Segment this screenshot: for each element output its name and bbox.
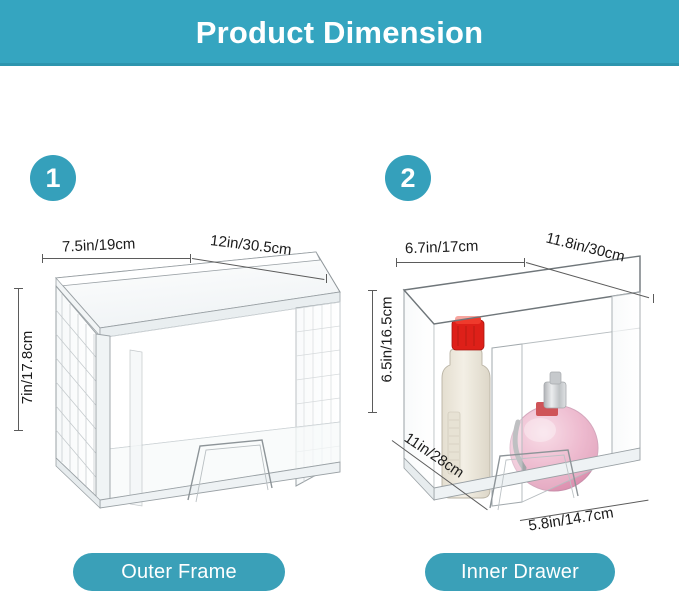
tick-length-right-end — [653, 294, 654, 303]
tick-width-left-start — [42, 254, 43, 263]
product-dimension-infographic: Product Dimension 1 2 — [0, 0, 679, 599]
caption-pill-inner-drawer: Inner Drawer — [425, 553, 615, 591]
header-banner: Product Dimension — [0, 0, 679, 66]
dimension-label-inner-width: 6.7in/17cm — [405, 239, 479, 257]
caption-outer-frame-label: Outer Frame — [121, 561, 237, 584]
tick-height-left-bottom — [14, 430, 23, 431]
caption-pill-outer-frame: Outer Frame — [73, 553, 285, 591]
tick-length-left-end — [326, 274, 327, 283]
badge-2-label: 2 — [400, 165, 415, 192]
outer-frame-illustration — [10, 250, 350, 510]
page-title: Product Dimension — [0, 14, 679, 52]
dimension-label-inner-height: 6.5in/16.5cm — [379, 297, 394, 383]
tick-height-left-top — [14, 288, 23, 289]
dimension-label-outer-height: 7in/17.8cm — [20, 331, 35, 404]
badge-1-label: 1 — [45, 165, 60, 192]
drawer-right-wall — [612, 292, 640, 464]
tick-width-right-start — [396, 258, 397, 267]
badge-number-1: 1 — [30, 155, 76, 201]
dimension-label-outer-width: 7.5in/19cm — [62, 236, 136, 254]
tick-height-right-bottom — [368, 412, 377, 413]
caption-inner-drawer-label: Inner Drawer — [461, 561, 579, 584]
guide-line-top-width-right — [396, 262, 524, 263]
tick-height-right-top — [368, 290, 377, 291]
inner-drawer-illustration — [372, 252, 672, 527]
guide-line-height-right — [372, 290, 373, 412]
badge-number-2: 2 — [385, 155, 431, 201]
guide-line-top-width-left — [42, 258, 190, 259]
